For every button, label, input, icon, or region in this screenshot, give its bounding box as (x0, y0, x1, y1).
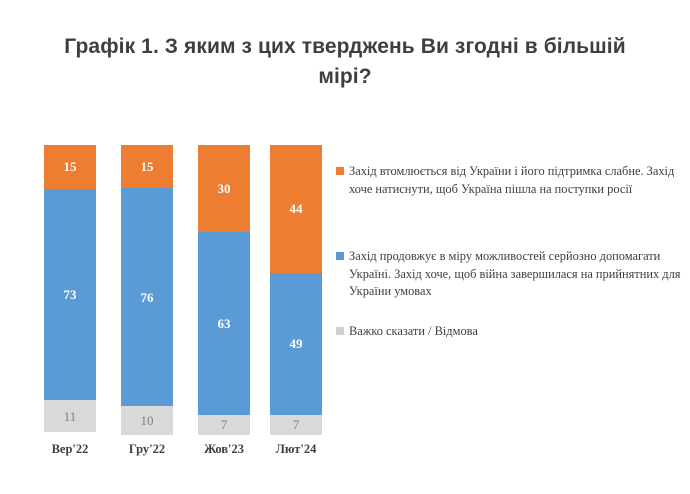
bar-stack: 15 76 10 (121, 145, 173, 435)
bar-segment-bottom[interactable]: 7 (270, 415, 322, 435)
category-label-4: Лют'24 (270, 442, 322, 457)
bar-value-label: 49 (290, 337, 303, 350)
bar-stack: 30 63 7 (198, 145, 250, 435)
legend-swatch-icon (336, 252, 344, 260)
bar-segment-top[interactable]: 15 (44, 145, 96, 189)
bar-segment-bottom[interactable]: 11 (44, 400, 96, 432)
bar-value-label: 10 (141, 414, 154, 427)
bar-stack: 15 73 11 (44, 145, 96, 435)
bar-value-label: 7 (293, 418, 300, 431)
bar-column-4[interactable]: 44 49 7 Лют'24 (270, 145, 322, 435)
category-label-2: Гру'22 (121, 442, 173, 457)
legend-item-west-tired[interactable]: Захід втомлюється від України і його під… (336, 163, 686, 198)
legend-swatch-icon (336, 167, 344, 175)
bar-value-label: 30 (218, 182, 231, 195)
plot-area: 15 73 11 Вер'22 15 76 10 (0, 145, 330, 435)
bar-value-label: 63 (218, 317, 231, 330)
bar-value-label: 15 (64, 160, 77, 173)
category-label-3: Жов'23 (198, 442, 250, 457)
legend-item-hard-to-say[interactable]: Важко сказати / Відмова (336, 323, 686, 341)
bar-segment-middle[interactable]: 49 (270, 273, 322, 415)
bar-segment-middle[interactable]: 76 (121, 188, 173, 406)
legend-label: Важко сказати / Відмова (349, 323, 478, 341)
chart-legend: Захід втомлюється від України і його під… (336, 163, 686, 362)
bar-stack: 44 49 7 (270, 145, 322, 435)
bar-value-label: 11 (64, 410, 77, 423)
bar-segment-top[interactable]: 15 (121, 145, 173, 188)
bar-column-2[interactable]: 15 76 10 Гру'22 (121, 145, 173, 435)
bar-segment-top[interactable]: 44 (270, 145, 322, 273)
bar-segment-middle[interactable]: 63 (198, 232, 250, 415)
bar-value-label: 7 (221, 418, 228, 431)
bar-segment-bottom[interactable]: 10 (121, 406, 173, 435)
legend-item-west-helps[interactable]: Захід продовжує в міру можливостей серйо… (336, 248, 686, 301)
bar-value-label: 15 (141, 160, 154, 173)
category-label-1: Вер'22 (44, 442, 96, 457)
legend-label: Захід продовжує в міру можливостей серйо… (349, 248, 686, 301)
bar-value-label: 76 (141, 291, 154, 304)
bar-segment-middle[interactable]: 73 (44, 189, 96, 401)
legend-swatch-icon (336, 327, 344, 335)
bar-value-label: 44 (290, 202, 303, 215)
bar-value-label: 73 (64, 288, 77, 301)
bar-column-1[interactable]: 15 73 11 Вер'22 (44, 145, 96, 435)
chart-page: Графік 1. З яким з цих тверджень Ви згод… (0, 0, 690, 494)
chart-title: Графік 1. З яким з цих тверджень Ви згод… (40, 32, 650, 92)
bar-column-3[interactable]: 30 63 7 Жов'23 (198, 145, 250, 435)
bar-segment-bottom[interactable]: 7 (198, 415, 250, 435)
legend-label: Захід втомлюється від України і його під… (349, 163, 686, 198)
bar-segment-top[interactable]: 30 (198, 145, 250, 232)
